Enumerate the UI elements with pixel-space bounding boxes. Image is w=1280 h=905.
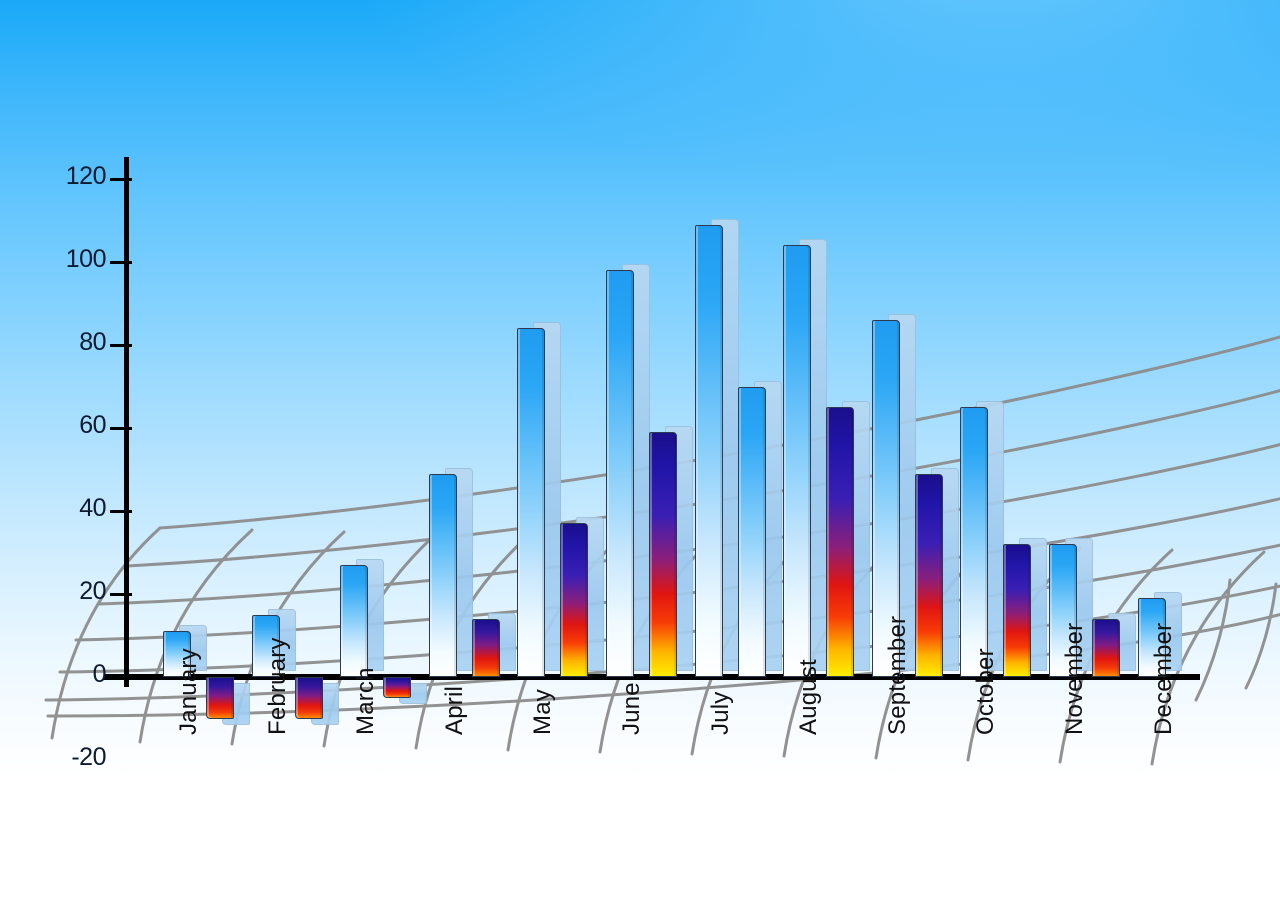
y-tick-100 [110,261,132,264]
x-axis-category-label: February [264,637,292,735]
y-axis-tick-label: 0 [36,660,106,689]
y-tick-40 [110,510,132,513]
y-axis-line [124,157,129,687]
bar-august-thermo [826,407,874,677]
bar-january-thermo [206,677,254,719]
bar-june-sky [606,270,654,677]
chart-canvas: 120100806040200-20 JanuaryFebruaryMarchA… [0,0,1280,905]
bar-face [383,677,411,698]
bar-face [517,328,545,677]
y-tick-20 [110,593,132,596]
bar-face [429,474,457,677]
y-tick-60 [110,427,132,430]
bar-face [295,677,323,719]
bar-february-thermo [295,677,343,719]
bar-april-thermo [472,619,520,677]
bar-face [695,225,723,677]
y-tick-120 [110,178,132,181]
y-axis-tick-label: 80 [36,328,106,357]
bar-march-sky [340,565,388,677]
bar-march-thermo [383,677,431,698]
bar-face [1003,544,1031,677]
plot-area: 120100806040200-20 JanuaryFebruaryMarchA… [0,0,1280,905]
bar-july-sky [695,225,743,677]
x-axis-category-label: April [441,686,469,735]
x-axis-category-label: December [1150,623,1178,735]
bar-may-thermo [560,523,608,677]
x-axis-category-label: August [795,659,823,735]
bar-face [340,565,368,677]
y-axis-tick-label: 100 [36,245,106,274]
bar-face [826,407,854,677]
bar-november-thermo [1092,619,1140,677]
y-axis-tick-label: 40 [36,494,106,523]
x-axis-category-label: September [884,616,912,735]
y-axis-tick-label: 120 [36,162,106,191]
bar-may-sky [517,328,565,677]
bar-july-thermo [738,387,786,678]
x-axis-category-label: May [529,689,557,735]
bar-april-sky [429,474,477,677]
bar-face [560,523,588,677]
y-axis-tick-label: 20 [36,577,106,606]
bar-face [738,387,766,678]
bar-face [783,245,811,677]
bar-face [1092,619,1120,677]
x-axis-category-label: November [1061,623,1089,735]
bar-face [649,432,677,677]
bar-june-thermo [649,432,697,677]
x-axis-category-label: October [972,648,1000,735]
bar-october-sky [960,407,1008,677]
bar-october-thermo [1003,544,1051,677]
bar-face [472,619,500,677]
bar-september-thermo [915,474,963,677]
bar-face [915,474,943,677]
bar-face [960,407,988,677]
y-tick-80 [110,344,132,347]
bar-face [606,270,634,677]
y-axis-tick-label: -20 [36,743,106,772]
bar-face [206,677,234,719]
x-axis-category-label: January [175,648,203,735]
y-axis-tick-label: 60 [36,411,106,440]
x-axis-category-label: June [618,682,646,735]
bar-august-sky [783,245,831,677]
x-axis-category-label: March [352,667,380,735]
x-axis-category-label: July [707,692,735,735]
